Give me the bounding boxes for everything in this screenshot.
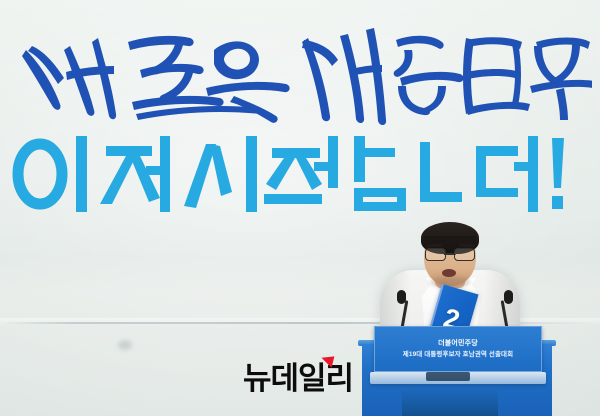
- watermark: 뉴데일리: [243, 360, 353, 394]
- microphone-head-right: [504, 290, 513, 304]
- podium-sign-title: 더불어민주당: [438, 340, 478, 348]
- lens-left: [425, 248, 446, 261]
- watermark-triangle-icon: [321, 356, 335, 368]
- mouth: [442, 269, 456, 277]
- news-photo: 2 최 더불어민주당 제19대 대통령후보자 호남권역 선출대회 뉴데일리: [0, 0, 600, 416]
- podium-column: [402, 384, 498, 416]
- podium-sign-subtitle: 제19대 대통령후보자 호남권역 선출대회: [403, 351, 513, 359]
- wall-smudge: [118, 340, 132, 350]
- watermark-text: 뉴데일리: [243, 363, 353, 394]
- speaker-and-podium: 2 최 더불어민주당 제19대 대통령후보자 호남권역 선출대회: [356, 222, 556, 416]
- backdrop-headline-secondary: [10, 132, 570, 216]
- podium-shelf-item: [426, 372, 470, 381]
- eyeglasses: [425, 248, 475, 260]
- lens-right: [454, 248, 475, 261]
- backdrop-headline-primary: [8, 16, 592, 128]
- podium-sign: 더불어민주당 제19대 대통령후보자 호남권역 선출대회: [374, 326, 542, 372]
